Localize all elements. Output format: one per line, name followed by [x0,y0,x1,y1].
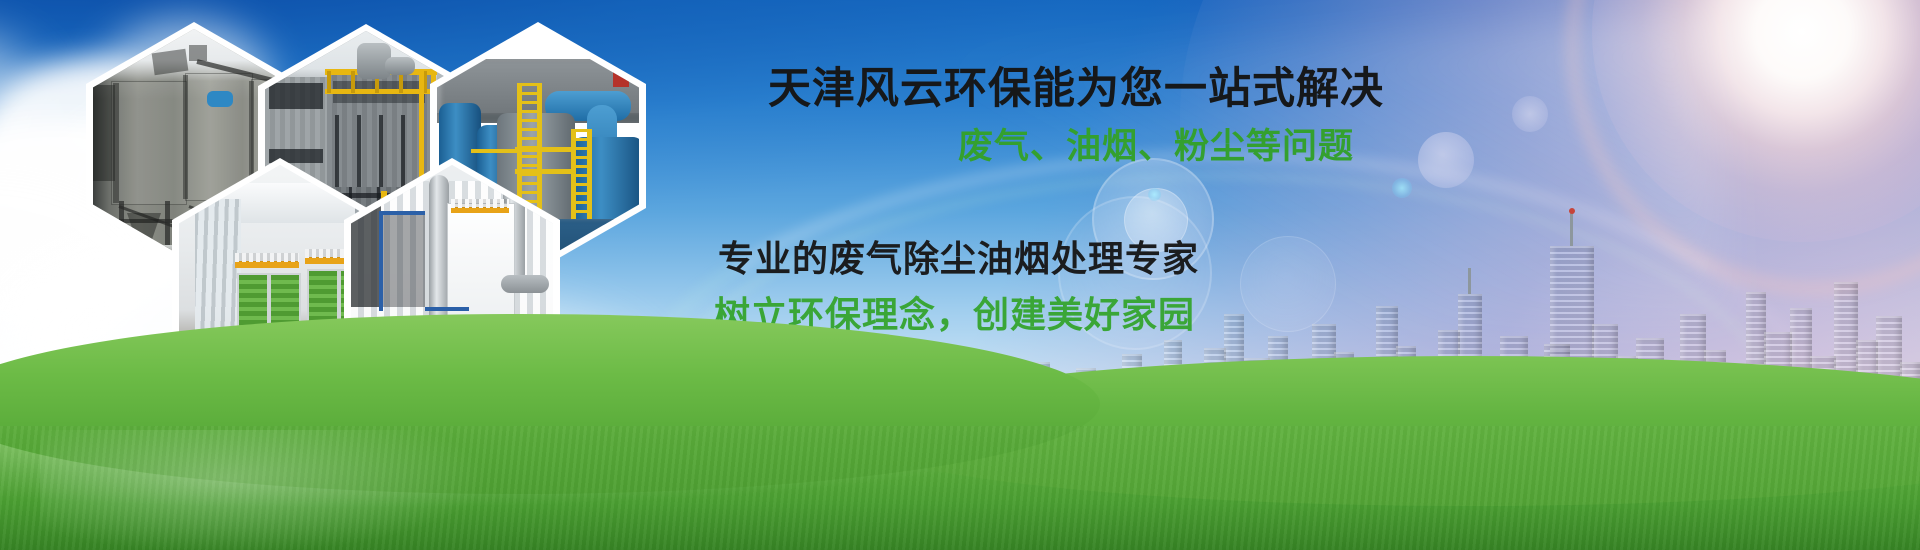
bokeh-circle [1512,96,1548,132]
grass-highlight [40,430,660,550]
page-title: 天津风云环保能为您一站式解决 [768,54,1384,116]
page-subtitle: 废气、油烟、粉尘等问题 [958,118,1354,169]
green-grass-field [0,426,1920,550]
hero-banner: 天津风云环保能为您一站式解决 废气、油烟、粉尘等问题 专业的废气除尘油烟处理专家… [0,0,1920,550]
